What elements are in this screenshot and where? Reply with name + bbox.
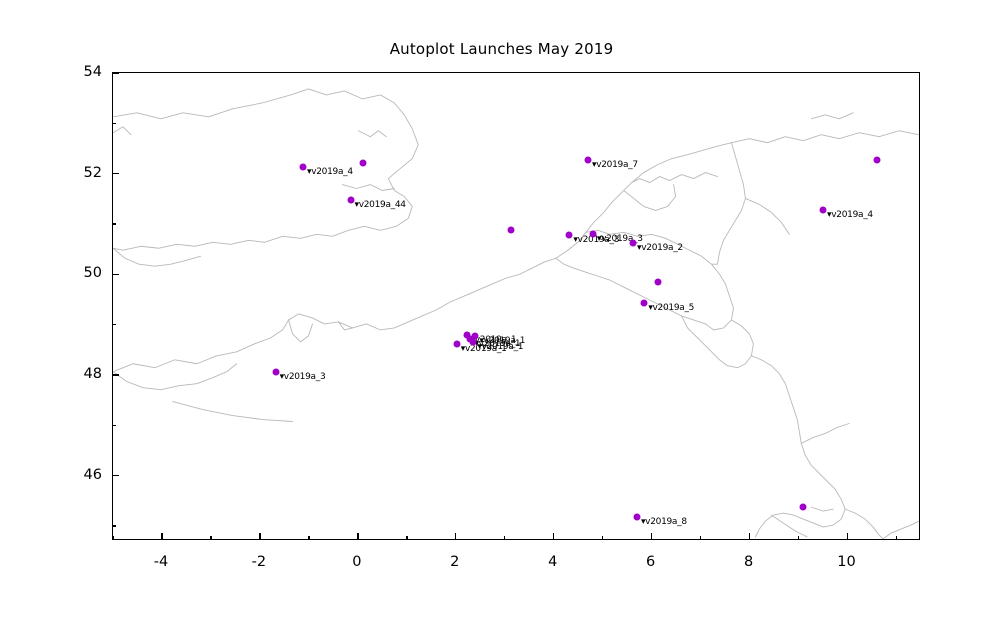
data-point bbox=[272, 369, 279, 376]
x-tick bbox=[357, 533, 358, 540]
y-tick bbox=[112, 123, 116, 124]
x-tick-label: 8 bbox=[744, 554, 753, 570]
x-tick bbox=[896, 536, 897, 540]
x-tick-label: 6 bbox=[646, 554, 655, 570]
y-tick bbox=[112, 374, 119, 375]
y-tick bbox=[112, 425, 116, 426]
y-tick-label: 54 bbox=[64, 64, 102, 80]
y-tick-label: 48 bbox=[64, 366, 102, 382]
y-tick-label: 52 bbox=[64, 165, 102, 181]
data-point-label: ▾v2019a_4 bbox=[307, 167, 353, 177]
x-tick bbox=[749, 533, 750, 540]
data-point-label: ▾v2019a_8 bbox=[641, 517, 687, 527]
chart-title: Autoplot Launches May 2019 bbox=[0, 40, 1003, 58]
data-point-label: ▾v2019a_4 bbox=[827, 210, 873, 220]
data-point-label: ▾v2019a_7 bbox=[592, 160, 638, 170]
y-tick bbox=[112, 324, 116, 325]
x-tick bbox=[798, 536, 799, 540]
basemap-coastlines bbox=[113, 73, 919, 539]
x-tick bbox=[602, 536, 603, 540]
x-tick bbox=[112, 536, 113, 540]
x-tick-label: 4 bbox=[548, 554, 557, 570]
x-tick bbox=[210, 536, 211, 540]
data-point bbox=[630, 240, 637, 247]
data-point bbox=[873, 156, 880, 163]
x-tick bbox=[455, 533, 456, 540]
data-point bbox=[470, 338, 477, 345]
data-point bbox=[820, 207, 827, 214]
x-tick bbox=[259, 533, 260, 540]
y-tick bbox=[112, 72, 119, 73]
data-point bbox=[347, 196, 354, 203]
x-tick-label: 0 bbox=[352, 554, 361, 570]
y-tick bbox=[112, 173, 119, 174]
data-point bbox=[359, 159, 366, 166]
data-point bbox=[641, 300, 648, 307]
y-tick bbox=[112, 475, 119, 476]
data-point-label: ▾v2019a_5 bbox=[648, 303, 694, 313]
x-tick bbox=[406, 536, 407, 540]
data-point bbox=[800, 503, 807, 510]
x-tick-label: -2 bbox=[252, 554, 266, 570]
x-tick-label: 2 bbox=[450, 554, 459, 570]
x-tick bbox=[700, 536, 701, 540]
data-point bbox=[566, 232, 573, 239]
plot-axes: ▾v2019a_4▾v2019a_44▾v2019a_7▾v2019a_4▾v2… bbox=[112, 72, 920, 540]
data-point-label: ▾v2019a_3 bbox=[280, 372, 326, 382]
data-point bbox=[453, 340, 460, 347]
x-tick-label: -4 bbox=[154, 554, 168, 570]
figure: Autoplot Launches May 2019 bbox=[0, 0, 1003, 633]
data-point bbox=[585, 156, 592, 163]
y-tick bbox=[112, 223, 116, 224]
data-point bbox=[472, 332, 479, 339]
x-tick bbox=[504, 536, 505, 540]
y-tick-label: 46 bbox=[64, 467, 102, 483]
x-tick bbox=[847, 533, 848, 540]
data-point bbox=[589, 231, 596, 238]
y-tick-label: 50 bbox=[64, 265, 102, 281]
data-point-label: ▾v2019a_1 bbox=[479, 336, 525, 346]
x-tick bbox=[308, 536, 309, 540]
data-point-label: ▾v2019a_2 bbox=[637, 243, 683, 253]
data-point bbox=[300, 164, 307, 171]
data-point bbox=[633, 513, 640, 520]
x-tick bbox=[161, 533, 162, 540]
x-tick bbox=[553, 533, 554, 540]
x-tick bbox=[651, 533, 652, 540]
data-point bbox=[654, 278, 661, 285]
data-point bbox=[507, 227, 514, 234]
x-tick-label: 10 bbox=[837, 554, 855, 570]
y-tick bbox=[112, 274, 119, 275]
y-tick bbox=[112, 525, 116, 526]
data-point-label: ▾v2019a_44 bbox=[355, 200, 406, 210]
